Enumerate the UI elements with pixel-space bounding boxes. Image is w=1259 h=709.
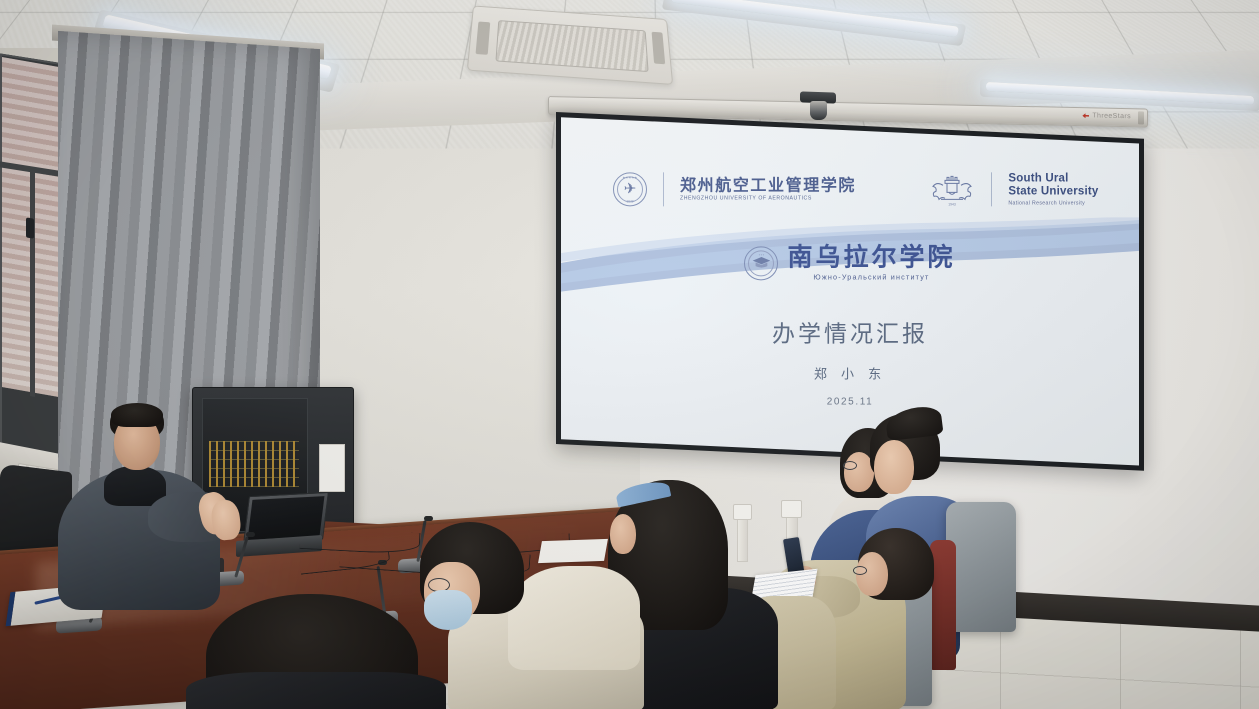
- presentation-title-slide: ★★★★★ ✈ 1949 郑州航空工业管理学院 ZHENGZHOU UNIVER…: [561, 130, 1139, 452]
- zhengzhou-university-seal-icon: ★★★★★ ✈ 1949: [613, 172, 647, 206]
- airplane-icon: ✈: [624, 182, 637, 197]
- window-handle[interactable]: [26, 217, 34, 238]
- face-mask: [424, 590, 472, 630]
- projector-brand-text: ThreeStars: [1092, 112, 1131, 120]
- south-ural-subtitle: National Research University: [1008, 200, 1098, 206]
- ac-vent-slot-left: [476, 22, 491, 55]
- logo-divider-1: [663, 172, 664, 206]
- institute-name-cn: 南乌拉尔学院: [787, 245, 955, 270]
- wall-data-port-right[interactable]: [781, 500, 802, 518]
- svg-text:1943: 1943: [949, 202, 957, 206]
- gooseneck-microphone-4-head: [424, 516, 433, 521]
- attendee-with-phone-glasses: [853, 566, 867, 575]
- rack-indicator-leds: [209, 441, 299, 487]
- institute-name-ru: Южно-Уральский институт: [787, 273, 955, 282]
- gooseneck-microphone-2-head: [246, 532, 255, 537]
- south-ural-name-line2: State University: [1008, 185, 1098, 198]
- auditorium-chair-1[interactable]: [946, 502, 1016, 632]
- stack-of-papers[interactable]: [538, 539, 608, 563]
- attendee-back-row-glasses: [843, 461, 857, 470]
- seal-micro-text: ★★★★★: [614, 176, 646, 180]
- logo-divider-2: [991, 172, 992, 206]
- three-stars-logo-icon: [1082, 113, 1089, 118]
- seal-year-label: 1949: [614, 199, 646, 203]
- attendee-blue-jacket-face: [874, 440, 914, 494]
- institute-name-block: 南乌拉尔学院 Южно-Уральский институт: [787, 245, 955, 282]
- svg-text:★★★: ★★★: [759, 254, 765, 257]
- screen-roller-knob[interactable]: [1138, 111, 1144, 124]
- zhengzhou-name-block: 郑州航空工业管理学院 ZHENGZHOU UNIVERSITY OF AERON…: [680, 177, 856, 202]
- projector-brand-label: ThreeStars: [1082, 112, 1131, 120]
- wall-conduit-left: [737, 516, 748, 562]
- slide-partner-logos: ★★★★★ ✈ 1949 郑州航空工业管理学院 ZHENGZHOU UNIVER…: [613, 172, 1099, 206]
- ac-grille: [495, 20, 648, 72]
- graduation-cap-seal-icon: ★★★: [744, 246, 778, 280]
- slide-author: 郑 小 东: [561, 364, 1139, 383]
- ceiling-mounted-camera: [810, 101, 827, 120]
- institute-logo: ★★★ 南乌拉尔学院 Южно-Уральский институт: [561, 245, 1139, 282]
- attendee-headband-face: [610, 514, 636, 554]
- meeting-room-photo: ThreeStars ★★★★★: [0, 0, 1259, 709]
- presenter-hair-top: [111, 403, 163, 427]
- zhengzhou-name-cn: 郑州航空工业管理学院: [680, 177, 856, 194]
- slide-date: 2025.11: [561, 396, 1139, 407]
- projection-surface: ★★★★★ ✈ 1949 郑州航空工业管理学院 ZHENGZHOU UNIVER…: [561, 117, 1139, 465]
- slide-title: 办学情况汇报: [561, 314, 1139, 348]
- zhengzhou-name-en: ZHENGZHOU UNIVERSITY OF AERONAUTICS: [680, 196, 856, 202]
- attendee-foreground-torso: [186, 672, 446, 709]
- south-ural-name-line1: South Ural: [1008, 172, 1098, 185]
- projector-screen[interactable]: ★★★★★ ✈ 1949 郑州航空工业管理学院 ZHENGZHOU UNIVER…: [556, 112, 1144, 471]
- attendee-masked-hood: [508, 566, 640, 670]
- zhengzhou-university-logo: ★★★★★ ✈ 1949 郑州航空工业管理学院 ZHENGZHOU UNIVER…: [613, 172, 856, 206]
- ac-vent-slot-right: [652, 32, 666, 65]
- auditorium-chair-1-arm: [930, 540, 956, 670]
- south-ural-name-block: South Ural State University National Res…: [1008, 172, 1098, 206]
- wall-data-port-left[interactable]: [733, 504, 752, 520]
- south-ural-university-logo: 1943 South Ural State University Nationa…: [929, 172, 1098, 206]
- south-ural-coat-of-arms-icon: 1943: [929, 172, 975, 206]
- window-mullion-vertical: [30, 170, 35, 397]
- rack-label-card: [319, 444, 345, 492]
